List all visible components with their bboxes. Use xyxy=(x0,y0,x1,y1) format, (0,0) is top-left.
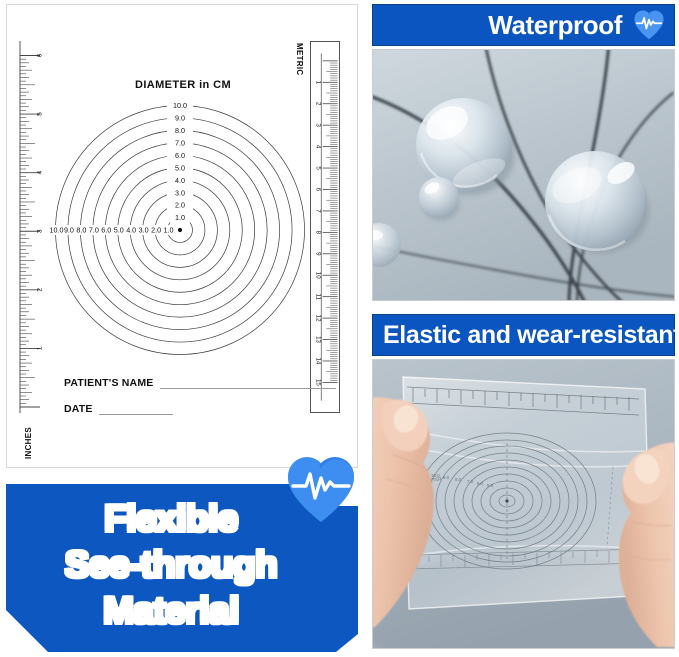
metric-tick-label: 4 xyxy=(315,145,322,149)
hands-stretching-ruler-photo: DIAMETER 10.09.0 8.07.0 6.05.0 xyxy=(372,359,675,649)
ring-label-horizontal: 9.0 xyxy=(64,226,74,235)
inches-tick-label: 1 xyxy=(37,346,44,350)
flexible-line-1: Flexible xyxy=(104,498,238,539)
inches-tick-label: 6 xyxy=(37,53,44,57)
water-droplets-photo xyxy=(372,49,675,301)
waterproof-banner: Waterproof xyxy=(372,4,675,46)
metric-tick-label: 14 xyxy=(315,358,322,365)
inches-ruler-label: INCHES xyxy=(24,427,33,459)
metric-tick-label: 11 xyxy=(315,293,322,300)
metric-tick-label: 9 xyxy=(315,252,322,256)
metric-tick-label: 12 xyxy=(315,315,322,322)
metric-tick-label: 5 xyxy=(315,166,322,170)
patient-name-row: PATIENT'S NAME xyxy=(64,377,336,389)
metric-tick-label: 6 xyxy=(315,188,322,192)
ring-label-horizontal: 2.0 xyxy=(151,226,161,235)
product-infographic: DIAMETER in CM 1.02.03.04.05.06.07.08.09… xyxy=(0,0,679,657)
ring-label-vertical: 2.0 xyxy=(175,201,185,210)
date-row: DATE xyxy=(64,403,173,415)
ring-label-vertical: 9.0 xyxy=(175,114,185,123)
inches-tick-label: 4 xyxy=(37,171,44,175)
svg-text:8.0: 8.0 xyxy=(455,477,462,482)
svg-text:10.0: 10.0 xyxy=(431,473,440,478)
inches-tick-label: 3 xyxy=(37,229,44,233)
svg-text:6.0: 6.0 xyxy=(477,481,484,486)
ring-label-horizontal: 7.0 xyxy=(89,226,99,235)
ring-label-horizontal: 8.0 xyxy=(76,226,86,235)
svg-text:9.0: 9.0 xyxy=(443,475,450,480)
right-column: Waterproof xyxy=(372,4,675,654)
waterproof-label: Waterproof xyxy=(488,12,622,38)
flexible-material-banner: Flexible See-through Material xyxy=(6,484,358,652)
metric-tick-label: 10 xyxy=(315,272,322,279)
ring-label-horizontal: 5.0 xyxy=(114,226,124,235)
concentric-circles-target: 1.02.03.04.05.06.07.08.09.010.0 10.09.08… xyxy=(7,5,359,469)
flexible-line-2: See-through xyxy=(65,544,277,585)
ring-label-horizontal: 4.0 xyxy=(126,226,136,235)
flexible-line-3: Material xyxy=(103,590,239,631)
metric-tick-label: 1 xyxy=(315,81,322,85)
target-center-dot xyxy=(178,228,182,232)
patient-name-field[interactable] xyxy=(160,377,336,389)
ring-label-horizontal: 6.0 xyxy=(101,226,111,235)
ring-label-vertical: 10.0 xyxy=(173,101,187,110)
heart-ecg-icon xyxy=(284,456,358,524)
ring-label-vertical: 4.0 xyxy=(175,176,185,185)
wound-measuring-chart-panel: DIAMETER in CM 1.02.03.04.05.06.07.08.09… xyxy=(6,4,358,468)
heart-ecg-icon xyxy=(632,10,666,40)
metric-tick-label: 3 xyxy=(315,123,322,127)
patient-name-label: PATIENT'S NAME xyxy=(64,377,154,389)
metric-ruler: 123456789101112131415 xyxy=(310,41,340,413)
elastic-label: Elastic and wear-resistant xyxy=(383,323,679,348)
ring-label-vertical: 7.0 xyxy=(175,138,185,147)
elastic-banner: Elastic and wear-resistant xyxy=(372,314,675,356)
svg-text:5.0: 5.0 xyxy=(487,483,494,488)
metric-tick-label: 8 xyxy=(315,231,322,235)
metric-tick-label: 13 xyxy=(315,336,322,343)
svg-text:7.0: 7.0 xyxy=(467,479,474,484)
ring-label-horizontal: 1.0 xyxy=(164,226,174,235)
metric-tick-label: 7 xyxy=(315,209,322,213)
inches-tick-label: 2 xyxy=(37,288,44,292)
ring-label-vertical: 5.0 xyxy=(175,163,185,172)
date-label: DATE xyxy=(64,403,93,415)
ring-label-vertical: 3.0 xyxy=(175,188,185,197)
inches-ruler: 123456 xyxy=(19,41,45,413)
ring-label-vertical: 6.0 xyxy=(175,151,185,160)
ring-label-vertical: 1.0 xyxy=(175,213,185,222)
inches-tick-label: 5 xyxy=(37,112,44,116)
ring-label-horizontal: 3.0 xyxy=(139,226,149,235)
ring-label-horizontal: 10.0 xyxy=(50,226,64,235)
date-field[interactable] xyxy=(99,403,173,415)
ring-label-vertical: 8.0 xyxy=(175,126,185,135)
metric-ruler-label: METRIC xyxy=(295,43,304,75)
metric-tick-label: 2 xyxy=(315,102,322,106)
